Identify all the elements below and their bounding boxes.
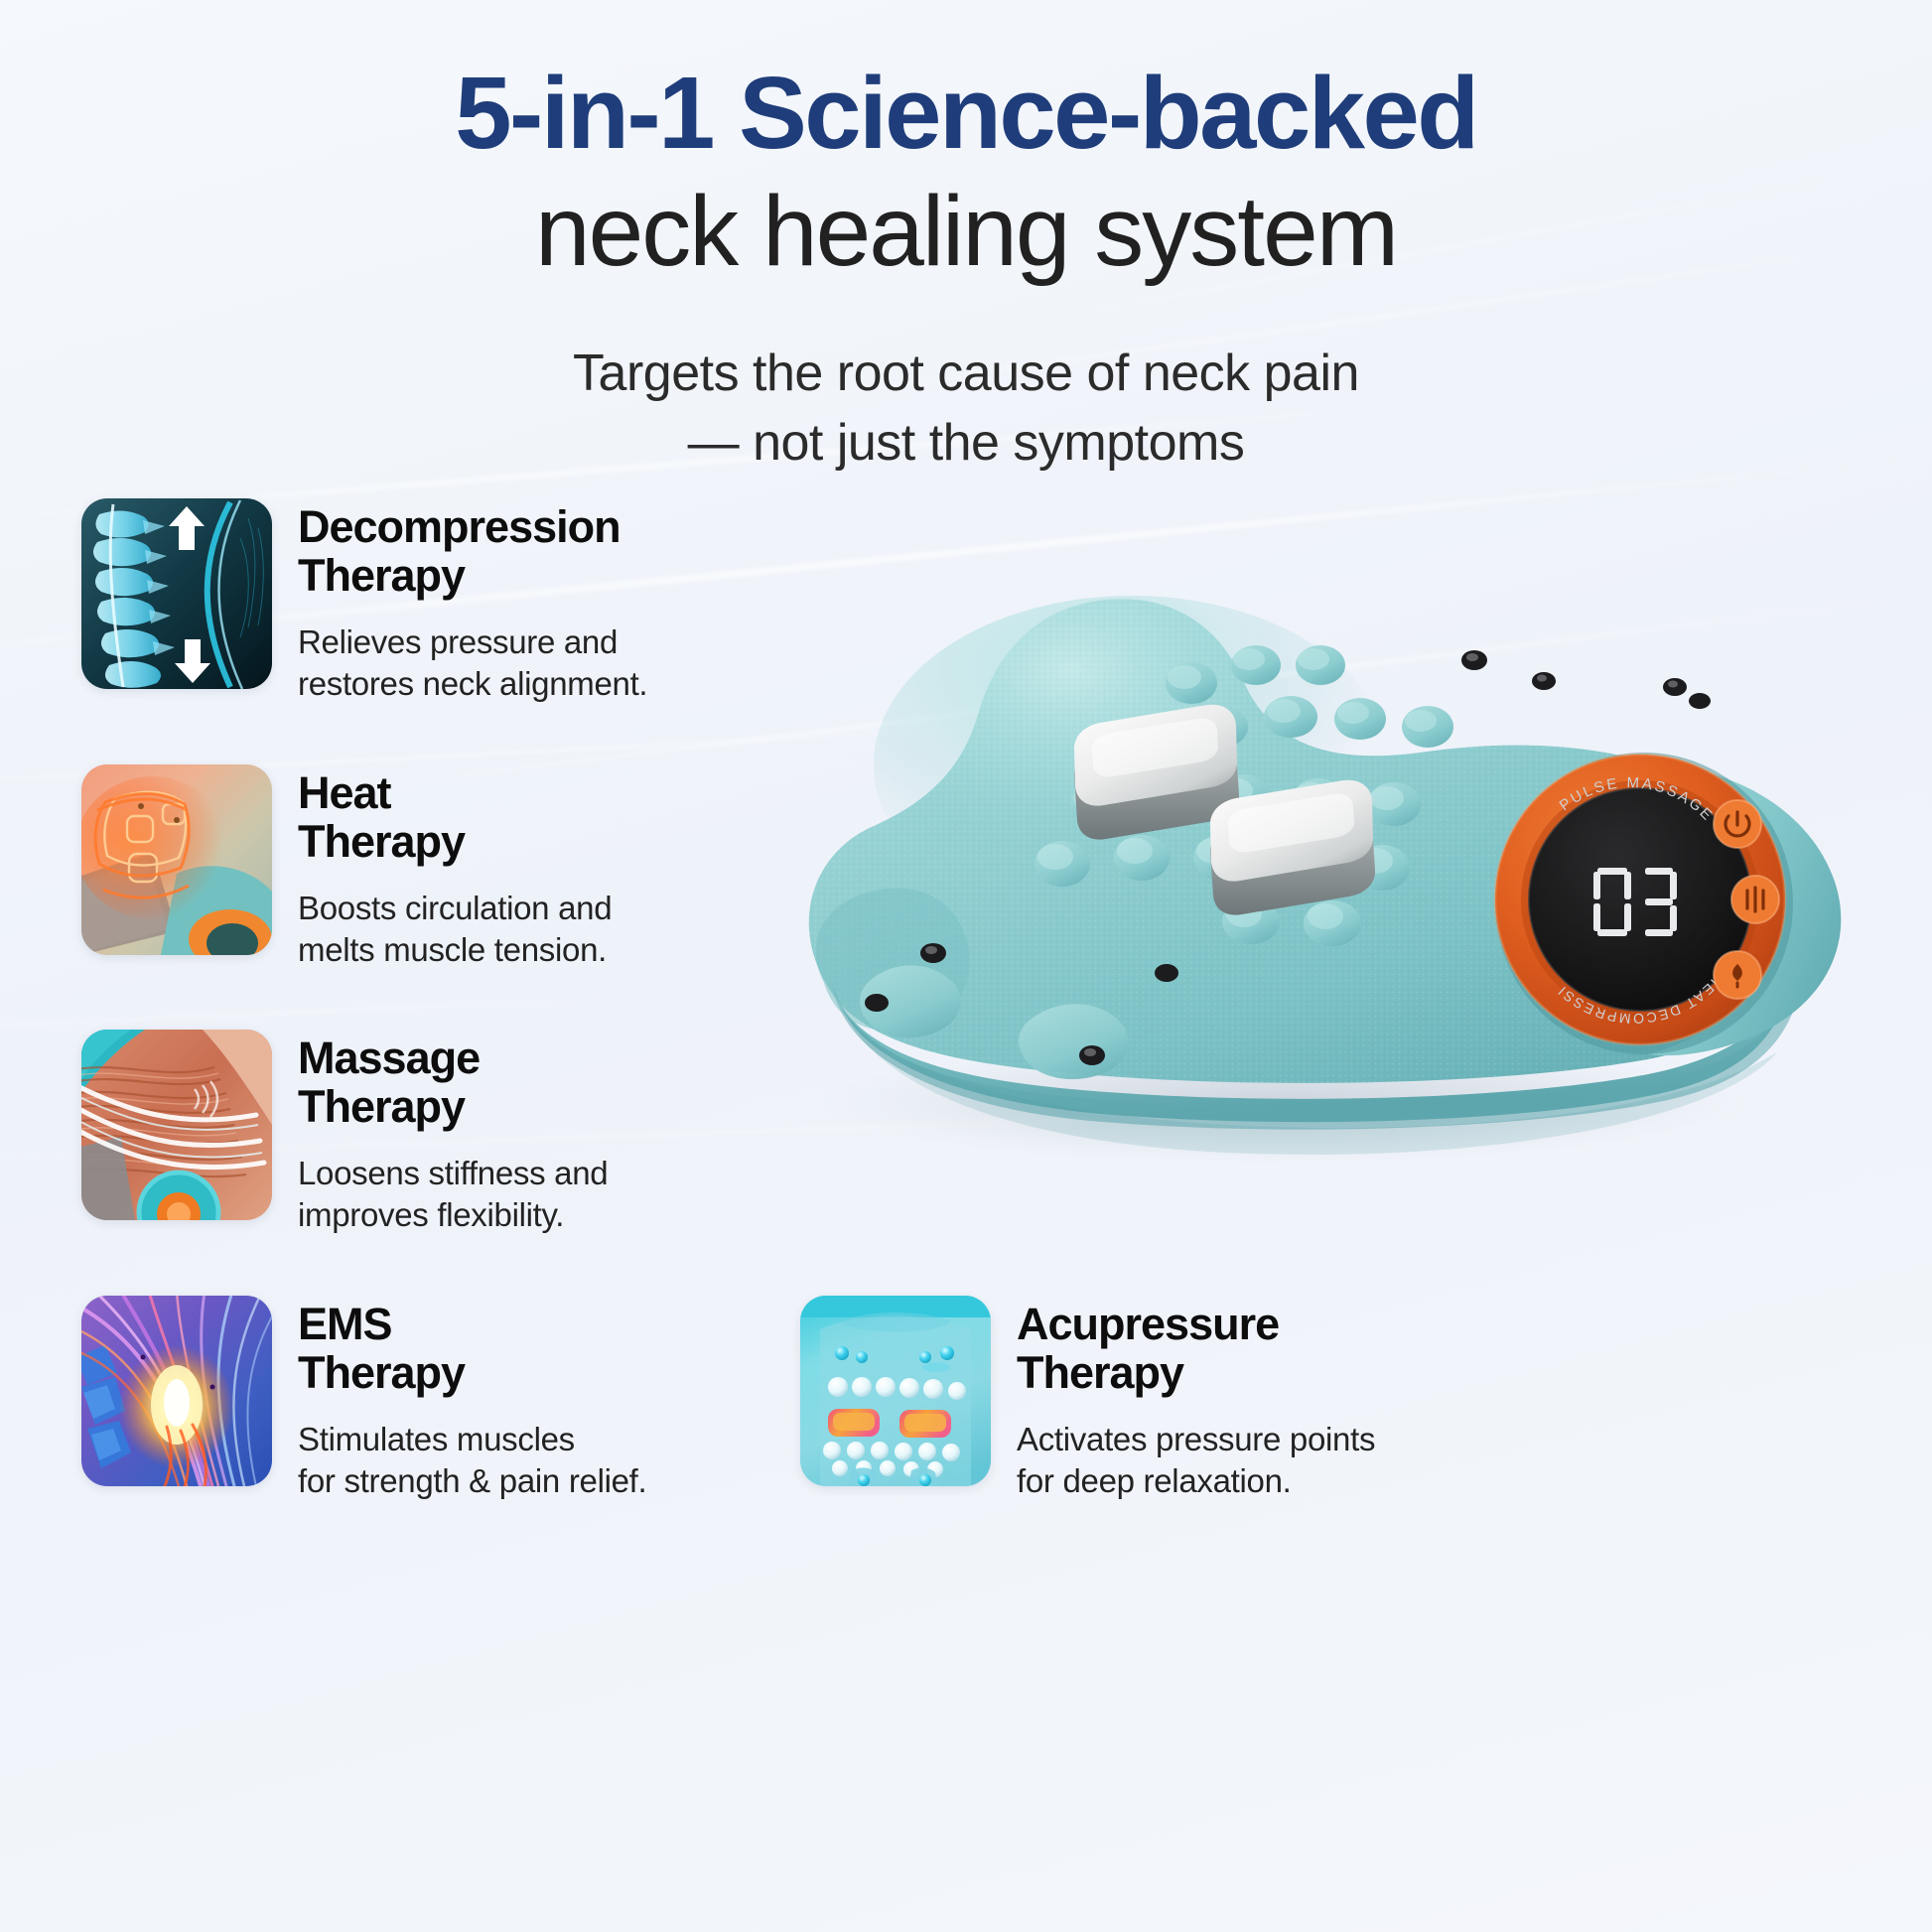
feature-desc-heat: Boosts circulation and melts muscle tens… [298, 888, 612, 971]
header: 5-in-1 Science-backed neck healing syste… [0, 58, 1932, 479]
feature-text-ems: EMS Therapy Stimulates muscles for stren… [298, 1296, 646, 1502]
page-title-line1: 5-in-1 Science-backed [0, 58, 1932, 168]
page-subtitle: Targets the root cause of neck pain — no… [0, 339, 1932, 478]
feature-title-line1: Massage [298, 1033, 480, 1083]
feature-desc-line1: Loosens stiffness and [298, 1153, 608, 1194]
feature-title-decompression: Decompression Therapy [298, 502, 647, 600]
feature-item-decompression: Decompression Therapy Relieves pressure … [81, 498, 647, 705]
feature-item-ems: EMS Therapy Stimulates muscles for stren… [81, 1296, 646, 1502]
feature-title-massage: Massage Therapy [298, 1034, 608, 1131]
feature-desc-line1: Activates pressure points [1017, 1419, 1375, 1460]
feature-desc-massage: Loosens stiffness and improves flexibili… [298, 1153, 608, 1236]
ems-nerve-thumbnail [81, 1296, 272, 1486]
feature-text-decompression: Decompression Therapy Relieves pressure … [298, 498, 647, 705]
feature-desc-line2: for strength & pain relief. [298, 1460, 646, 1502]
muscle-fiber-thumbnail [81, 1030, 272, 1220]
feature-text-acupressure: Acupressure Therapy Activates pressure p… [1017, 1296, 1375, 1502]
feature-desc-line2: for deep relaxation. [1017, 1460, 1375, 1502]
feature-desc-line1: Boosts circulation and [298, 888, 612, 929]
feature-title-line2: Therapy [298, 551, 647, 600]
feature-title-acupressure: Acupressure Therapy [1017, 1300, 1375, 1397]
feature-desc-line1: Stimulates muscles [298, 1419, 646, 1460]
acupressure-nodes-thumbnail [800, 1296, 991, 1486]
feature-desc-decompression: Relieves pressure and restores neck alig… [298, 621, 647, 705]
feature-title-line1: Heat [298, 767, 391, 818]
xray-spine-thumbnail [81, 498, 272, 689]
feature-desc-line2: melts muscle tension. [298, 929, 612, 971]
feature-title-line1: Decompression [298, 501, 621, 552]
feature-title-line1: Acupressure [1017, 1299, 1279, 1349]
feature-item-massage: Massage Therapy Loosens stiffness and im… [81, 1030, 608, 1236]
feature-desc-line2: improves flexibility. [298, 1194, 608, 1236]
feature-desc-line2: restores neck alignment. [298, 663, 647, 705]
feature-desc-acupressure: Activates pressure points for deep relax… [1017, 1419, 1375, 1502]
feature-item-acupressure: Acupressure Therapy Activates pressure p… [800, 1296, 1375, 1502]
ems-electrode-right [1210, 780, 1375, 915]
feature-title-heat: Heat Therapy [298, 768, 612, 866]
feature-title-line2: Therapy [298, 1082, 608, 1131]
feature-text-heat: Heat Therapy Boosts circulation and melt… [298, 764, 612, 971]
feature-text-massage: Massage Therapy Loosens stiffness and im… [298, 1030, 608, 1236]
feature-title-line2: Therapy [298, 817, 612, 866]
feature-title-ems: EMS Therapy [298, 1300, 646, 1397]
feature-item-heat: Heat Therapy Boosts circulation and melt… [81, 764, 612, 971]
page-title-line2: neck healing system [0, 172, 1932, 291]
massage-mode-button [1731, 876, 1779, 923]
power-button [1714, 800, 1761, 848]
heat-mode-button [1714, 951, 1761, 999]
feature-title-line2: Therapy [1017, 1348, 1375, 1397]
feature-title-line2: Therapy [298, 1348, 646, 1397]
feature-title-line1: EMS [298, 1299, 392, 1349]
feature-desc-line1: Relieves pressure and [298, 621, 647, 663]
feature-desc-ems: Stimulates muscles for strength & pain r… [298, 1419, 646, 1502]
subtitle-line1: Targets the root cause of neck pain [0, 339, 1932, 408]
product-image-neck-stretcher: PULSE MASSAGE HEAT DECOMPRESSION [635, 467, 1926, 1221]
heating-element-thumbnail [81, 764, 272, 955]
